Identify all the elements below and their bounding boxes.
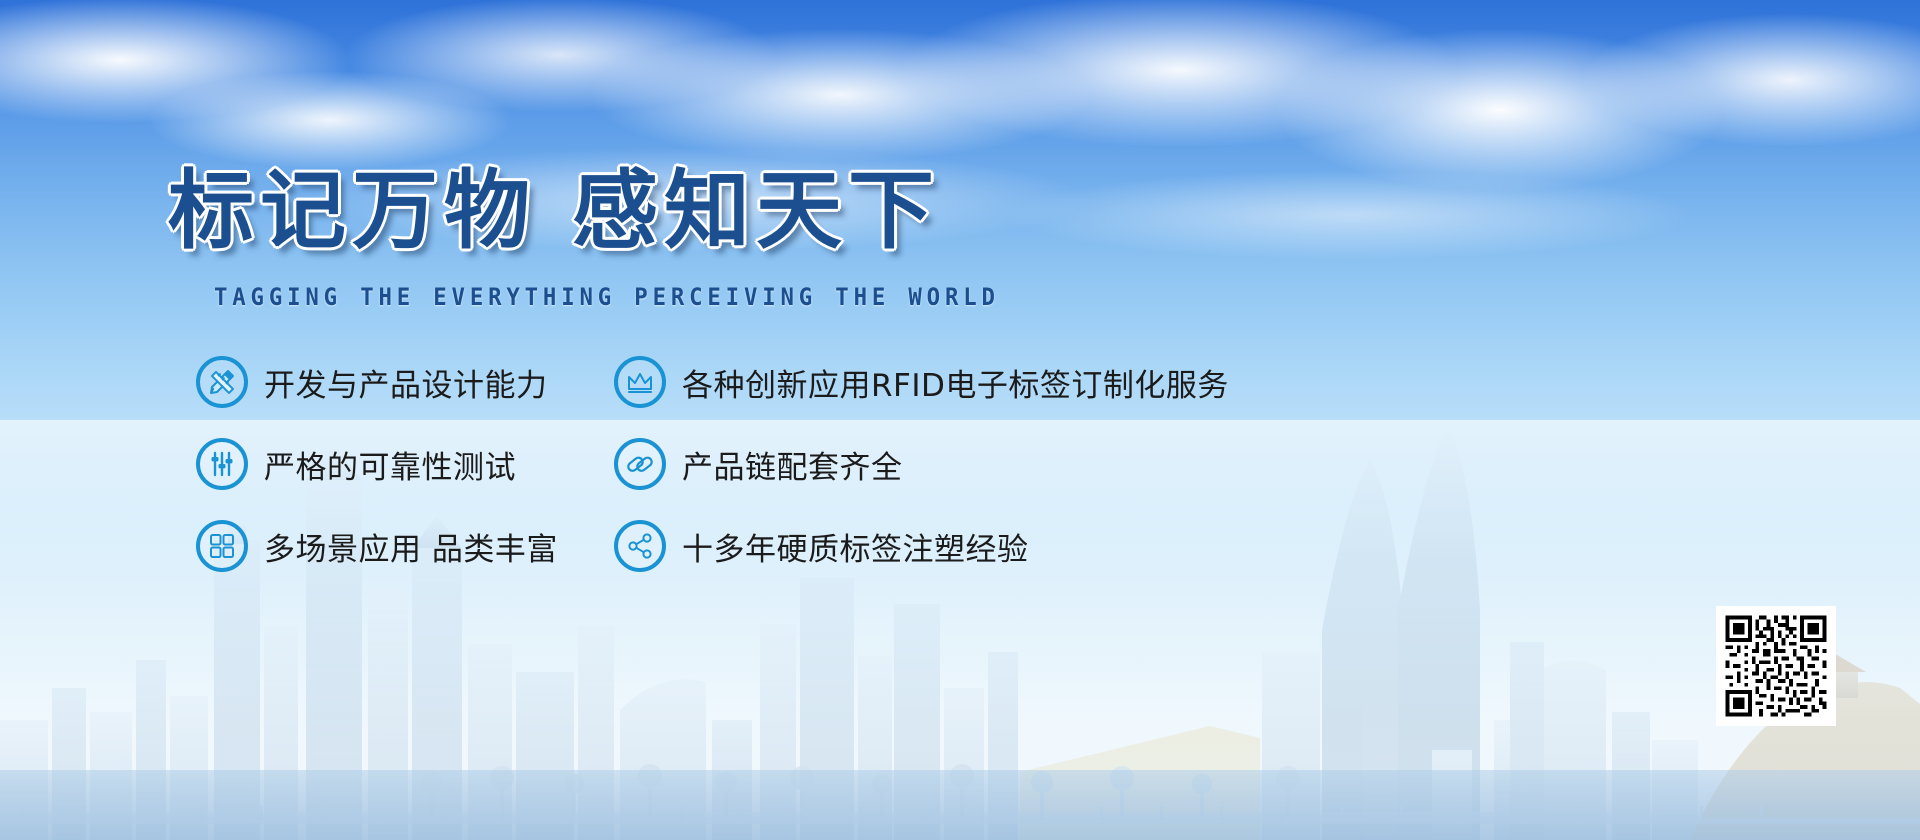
feature-column-left: 开发与产品设计能力: [196, 354, 558, 600]
feature-item-scenarios: 多场景应用 品类丰富: [196, 518, 558, 574]
chain-link-icon: [614, 438, 666, 490]
grid-squares-icon: [196, 520, 248, 572]
sliders-icon: [196, 438, 248, 490]
feature-label: 严格的可靠性测试: [264, 442, 516, 487]
waterfront: [0, 770, 1920, 840]
feature-label: 十多年硬质标签注塑经验: [682, 524, 1029, 569]
feature-label: 各种创新应用RFID电子标签订制化服务: [682, 360, 1229, 405]
feature-column-right: 各种创新应用RFID电子标签订制化服务 产品链配套齐全: [614, 354, 1229, 600]
crown-icon: [614, 356, 666, 408]
feature-label: 产品链配套齐全: [682, 442, 903, 487]
page-title: 标记万物 感知天下: [168, 140, 940, 265]
feature-item-rfid-service: 各种创新应用RFID电子标签订制化服务: [614, 354, 1229, 410]
feature-item-experience: 十多年硬质标签注塑经验: [614, 518, 1229, 574]
ruler-pencil-icon: [196, 356, 248, 408]
promotional-banner: 标记万物 感知天下 TAGGING THE EVERYTHING PERCEIV…: [0, 0, 1920, 840]
feature-item-testing: 严格的可靠性测试: [196, 436, 558, 492]
feature-item-supply-chain: 产品链配套齐全: [614, 436, 1229, 492]
share-network-icon: [614, 520, 666, 572]
feature-label: 开发与产品设计能力: [264, 360, 548, 405]
feature-item-design: 开发与产品设计能力: [196, 354, 558, 410]
page-subtitle: TAGGING THE EVERYTHING PERCEIVING THE WO…: [214, 283, 1000, 311]
qr-code[interactable]: [1716, 606, 1836, 726]
feature-label: 多场景应用 品类丰富: [264, 524, 558, 569]
